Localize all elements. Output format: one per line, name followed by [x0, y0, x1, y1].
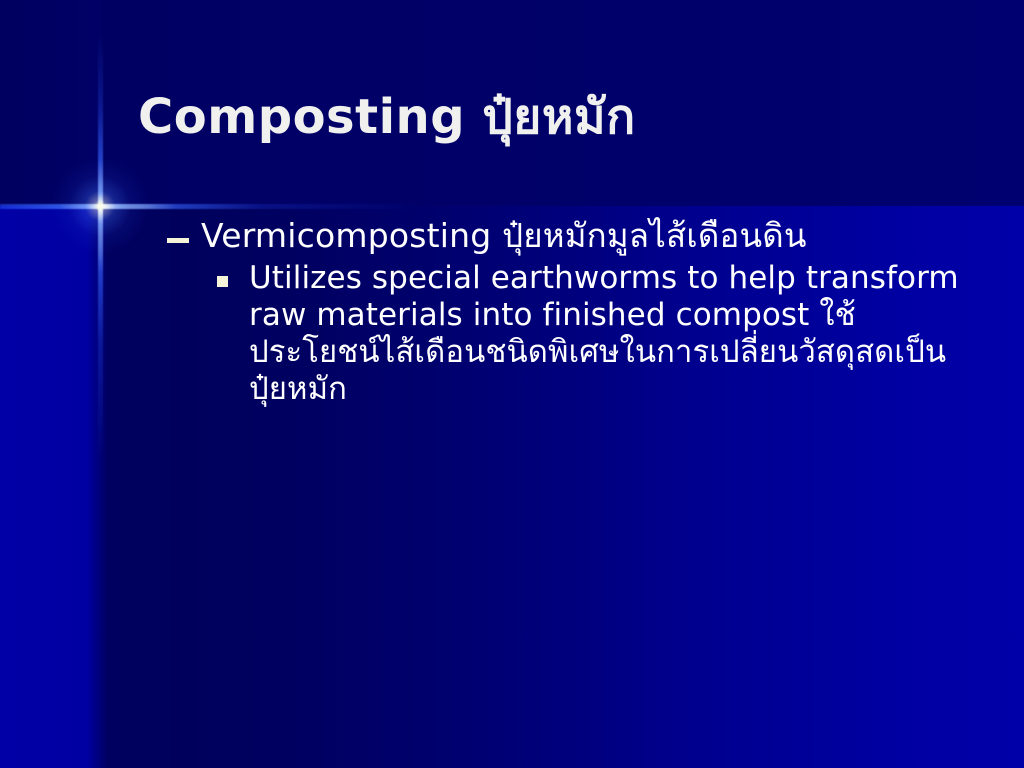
slide-background-upper-left-strip	[0, 0, 100, 206]
slide-body: Vermicomposting ปุ๋ยหมักมูลไส้เดือนดิน U…	[165, 218, 965, 408]
slide-title: Composting ปุ๋ยหมัก	[138, 92, 938, 142]
presentation-slide: Composting ปุ๋ยหมัก Vermicomposting ปุ๋ย…	[0, 0, 1024, 768]
bullet-level2: Utilizes special earthworms to help tran…	[165, 260, 965, 409]
bullet-level1: Vermicomposting ปุ๋ยหมักมูลไส้เดือนดิน	[165, 218, 965, 254]
dash-bullet-icon	[167, 238, 189, 243]
bullet-level2-text: Utilizes special earthworms to help tran…	[249, 260, 965, 409]
square-bullet-icon	[217, 276, 228, 287]
bullet-level1-text: Vermicomposting ปุ๋ยหมักมูลไส้เดือนดิน	[201, 216, 807, 255]
